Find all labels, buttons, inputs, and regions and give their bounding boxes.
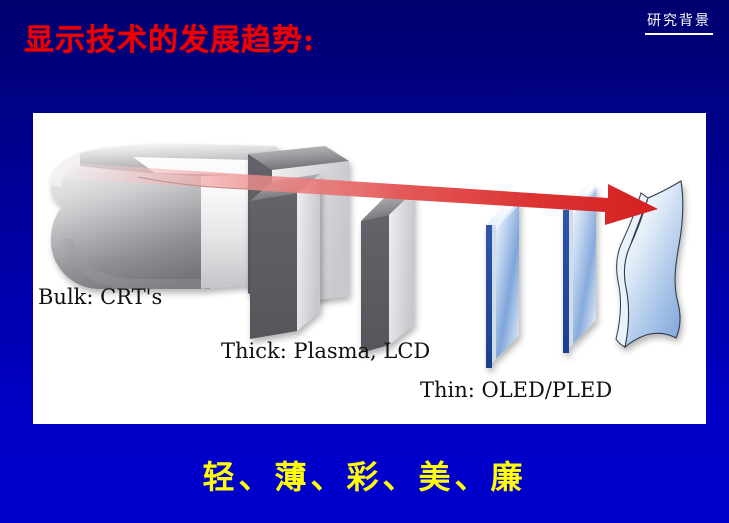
thick-panel-2-shape	[361, 191, 414, 353]
section-tag: 研究背景	[645, 10, 713, 35]
page-title: 显示技术的发展趋势:	[24, 15, 315, 59]
thick-panel-1-face	[250, 174, 320, 339]
label-bulk: Bulk: CRT's	[38, 285, 162, 309]
label-thin: Thin: OLED/PLED	[420, 378, 612, 402]
figure-panel: Bulk: CRT's Thick: Plasma, LCD Thin: OLE…	[33, 113, 706, 424]
slide-canvas: 显示技术的发展趋势: 研究背景	[0, 0, 729, 523]
label-thick: Thick: Plasma, LCD	[221, 339, 430, 363]
flat-panel-1-shape	[486, 201, 519, 368]
tagline: 轻、薄、彩、美、廉	[0, 452, 729, 498]
